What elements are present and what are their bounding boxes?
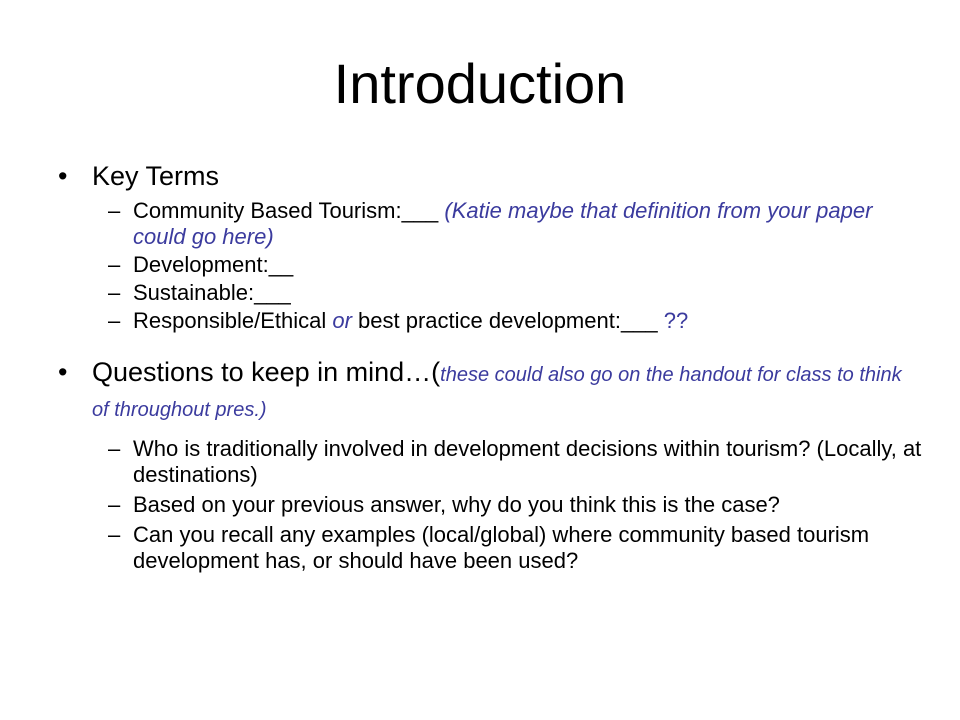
bullet-dash-icon: – [108, 522, 120, 548]
bullet-recall-examples: – Can you recall any examples (local/glo… [46, 522, 922, 574]
slide-body: • Key Terms – Community Based Tourism:__… [46, 160, 922, 574]
bullet-dash-icon: – [108, 492, 120, 518]
bullet-why-this-is-the-case: – Based on your previous answer, why do … [46, 492, 922, 518]
bullet-dot-icon: • [58, 356, 67, 388]
responsible-ethical-or: or [332, 308, 352, 333]
bullet-dash-icon: – [108, 308, 120, 334]
who-is-involved-text: Who is traditionally involved in develop… [133, 436, 921, 487]
bullet-key-terms: • Key Terms [46, 160, 922, 192]
bullet-dash-icon: – [108, 436, 120, 462]
development-text: Development:__ [133, 252, 293, 277]
community-based-tourism-text: Community Based Tourism:___ [133, 198, 444, 223]
slide-title: Introduction [0, 52, 960, 116]
bullet-dash-icon: – [108, 280, 120, 306]
why-this-is-the-case-text: Based on your previous answer, why do yo… [133, 492, 780, 517]
sustainable-text: Sustainable:___ [133, 280, 291, 305]
bullet-questions-to-keep-in-mind: • Questions to keep in mind…(these could… [46, 356, 922, 426]
bullet-dash-icon: – [108, 198, 120, 224]
recall-examples-text: Can you recall any examples (local/globa… [133, 522, 869, 573]
responsible-ethical-text: Responsible/Ethical [133, 308, 332, 333]
bullet-development: – Development:__ [46, 252, 922, 278]
slide: Introduction • Key Terms – Community Bas… [0, 0, 960, 720]
responsible-ethical-text-after: best practice development:___ [352, 308, 664, 333]
bullet-sustainable: – Sustainable:___ [46, 280, 922, 306]
bullet-community-based-tourism: – Community Based Tourism:___ (Katie may… [46, 198, 922, 250]
bullet-who-is-involved: – Who is traditionally involved in devel… [46, 436, 922, 488]
bullet-responsible-ethical: – Responsible/Ethical or best practice d… [46, 308, 922, 334]
bullet-key-terms-label: Key Terms [92, 161, 219, 191]
bullet-dot-icon: • [58, 160, 67, 192]
bullet-dash-icon: – [108, 252, 120, 278]
questions-heading-label: Questions to keep in mind…( [92, 357, 440, 387]
responsible-ethical-question-marks: ?? [664, 308, 688, 333]
